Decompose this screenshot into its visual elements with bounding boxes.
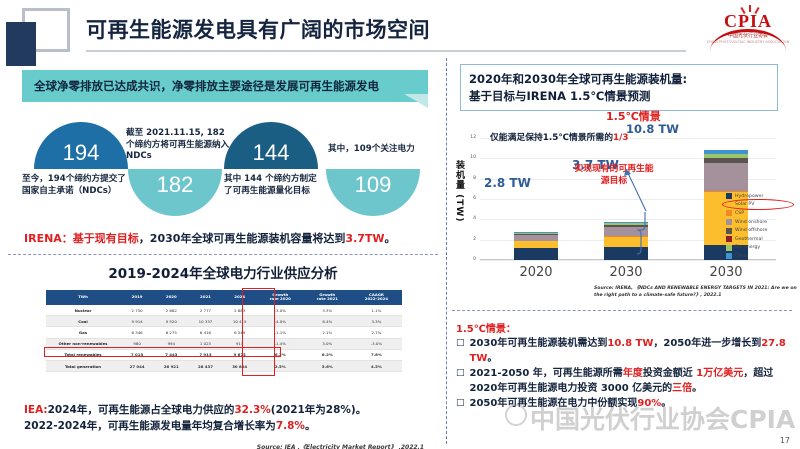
right-title-line-2: 基于目标与IRENA 1.5℃情景预测 [469, 88, 769, 105]
table-cell: 3.3% [351, 316, 402, 327]
right-source: Source: IRENA, 《NDCs AND RENEWABLE ENERG… [594, 286, 800, 299]
table-cell: -3.0% [351, 338, 402, 349]
bullet-text: 2021-2050 年，可再生能源所需年度投资金额近 1万亿美元，超过2020年… [470, 367, 794, 396]
table-cell: 1 023 [188, 338, 222, 349]
legend-label: Geothermal [735, 237, 763, 242]
circle-109-value: 109 [326, 172, 420, 198]
table-col-header: TWh [46, 290, 120, 305]
legend-swatch-icon [726, 193, 732, 199]
table-col-header: 2021 [188, 290, 222, 305]
scenario-bullets: 1.5℃情景： □2030年可再生能源装机需达到10.8 TW，2050年进一步… [456, 320, 794, 413]
irena-value: 3.7TW [345, 232, 384, 245]
table-cell: 2.7% [351, 327, 402, 338]
iea-statement: IEA:2024年，可再生能源占全球电力供应的32.3%(2021年为28%)。… [24, 402, 366, 435]
bullet-emphasis: 10.8 TW [607, 338, 653, 349]
bullet-emphasis: 1万亿美元 [696, 368, 743, 379]
irena-emphasis: 基于现有目标 [73, 232, 139, 245]
logo-cn-name: 中国光伏行业协会 [704, 32, 792, 39]
right-divider [452, 310, 792, 311]
legend-item: Bio energy [726, 244, 800, 253]
logo-en-name: CHINA PHOTOVOLTAIC INDUSTRY ASSOCIATION [704, 40, 792, 44]
circle-194: 194 [34, 122, 128, 169]
table-cell: 3.3% [304, 305, 351, 316]
right-title-line-1: 2020年和2030年全球可再生能源装机量: [469, 71, 769, 88]
irena-statement: IRENA：基于现有目标，2030年全球可再生能源装机容量将达到3.7TW。 [24, 230, 396, 246]
page-title: 可再生能源发电具有广阔的市场空间 [86, 14, 430, 44]
x-axis-tick: 2020 [501, 265, 571, 280]
table-cell: 28 437 [188, 360, 222, 371]
table-cell: 30 884 [223, 360, 257, 371]
bar-total-label: 2.8 TW [484, 176, 531, 190]
y-axis-tick: 0 [464, 257, 476, 262]
y-axis-tick: 6 [464, 196, 476, 201]
y-axis-tick: 8 [464, 176, 476, 181]
right-panel: 2020年和2030年全球可再生能源装机量: 基于目标与IRENA 1.5℃情景… [446, 58, 800, 449]
legend-item: CSP [726, 209, 800, 218]
ndc-infographic: 194 至今，194个缔约方提交了国家自主承诺（NDCs） 182 截至 202… [0, 108, 446, 228]
iea-text-1: 2024年，可再生能源占全球电力供应的 [48, 404, 235, 416]
table-cell: 27 044 [120, 360, 154, 371]
table-header-row: TWh2019202020212024Growthrate 2020Growth… [46, 290, 402, 305]
page-number: 17 [780, 436, 790, 445]
circle-109-caption: 其中，109个关注电力 [328, 144, 434, 156]
table-cell: 2.1% [304, 327, 351, 338]
table-col-header: 2019 [120, 290, 154, 305]
legend-label: Solar PV [735, 202, 754, 207]
table-row-label: Total renewables [46, 349, 120, 360]
bullet-square-icon: □ [456, 337, 465, 366]
table-cell: 2 883 [223, 305, 257, 316]
table-col-header: CAAGR2022-2024 [351, 290, 402, 305]
irena-rest: ，2030年全球可再生能源装机容量将达到 [139, 232, 346, 245]
x-axis-tick: 2030 [691, 265, 761, 280]
legend-swatch-icon [726, 236, 732, 242]
bullet-plain: 2021-2050 年，可再生能源所需 [470, 368, 623, 379]
table-cell: 2 682 [154, 305, 188, 316]
table-row-label: Nuclear [46, 305, 120, 316]
table-cell: 3.0% [304, 338, 351, 349]
iea-text-4: 。 [305, 420, 316, 432]
table-cell: 994 [154, 338, 188, 349]
table-cell: 10 415 [223, 316, 257, 327]
legend-label: Hydropower [735, 194, 763, 199]
table-cell: 5.6% [304, 360, 351, 371]
legend-label: Bio energy [735, 245, 760, 250]
table-col-header: 2024 [223, 290, 257, 305]
table-row: Gas6 3466 2756 4166 549-1.1%2.1%2.7% [46, 327, 402, 338]
table-row: Total renewables7 0157 4437 9139 6756.2%… [46, 349, 402, 360]
table-cell: 6 275 [154, 327, 188, 338]
legend-item: Solar PV [726, 201, 800, 210]
table-col-header: 2020 [154, 290, 188, 305]
legend-swatch-icon [726, 210, 732, 216]
table-cell: 9 520 [154, 316, 188, 327]
chart-note-one-third: 仅能满足保持1.5℃情景所需的1/3 [490, 130, 628, 143]
table-cell: -3.0% [257, 305, 304, 316]
bullet-plain: 投资金额近 [643, 368, 696, 379]
table-cell: 2 750 [120, 305, 154, 316]
bullet-text: 2030年可再生能源装机需达到10.8 TW，2050年进一步增长到27.8 T… [470, 337, 794, 366]
circle-144-value: 144 [224, 140, 318, 166]
table-cell: 6 416 [188, 327, 222, 338]
legend-label: Other [735, 254, 748, 259]
chart-note-one-third-text: 仅能满足保持1.5℃情景所需的 [490, 133, 613, 143]
bar-segment-wind-onshore [704, 163, 748, 190]
table-cell: 7 015 [120, 349, 154, 360]
y-axis-tick: 12 [464, 135, 476, 140]
bullet-plain: ，2050年进一步增长到 [653, 338, 761, 349]
circle-144: 144 [224, 122, 318, 169]
y-axis-tick: 10 [464, 155, 476, 160]
supply-table: TWh2019202020212024Growthrate 2020Growth… [46, 290, 402, 372]
table-cell: 8.4% [304, 316, 351, 327]
iea-label: IEA: [24, 404, 48, 416]
watermark-circle-icon [505, 404, 527, 426]
table-cell: -1.4% [257, 338, 304, 349]
table-cell: 7 913 [188, 349, 222, 360]
watermark: 中国光伏行业协会CPIA [530, 400, 795, 436]
table-cell: 2.5% [257, 360, 304, 371]
header-decoration [6, 8, 78, 56]
table-cell: 7.8% [351, 349, 402, 360]
table-cell: 980 [120, 338, 154, 349]
table-body: Nuclear2 7502 6822 7772 883-3.0%3.3%1.1%… [46, 305, 402, 372]
consensus-banner: 全球净零排放已达成共识，净零排放主要途径是发展可再生能源发电 [22, 70, 428, 102]
cpia-logo: CPIA 中国光伏行业协会 CHINA PHOTOVOLTAIC INDUSTR… [704, 4, 792, 48]
bullet-emphasis: 年度 [623, 368, 643, 379]
circle-144-caption: 其中 144 个缔约方制定了可再生能源量化目标 [224, 174, 324, 197]
installed-capacity-chart: 装机量 (TW) 0246810122.8 TW20203.7 TW203020… [454, 116, 800, 282]
iea-line-1: IEA:2024年，可再生能源占全球电力供应的32.3%(2021年为28%)。 [24, 402, 366, 418]
table-cell: 9 675 [223, 349, 257, 360]
chart-note-one-third-frac: 1/3 [613, 133, 628, 143]
table-row-label: Gas [46, 327, 120, 338]
legend-item: Other [726, 252, 800, 261]
right-title-box: 2020年和2030年全球可再生能源装机量: 基于目标与IRENA 1.5℃情景… [460, 64, 778, 111]
table-row: Coal9 9149 52010 33710 415-4.0%8.4%3.3% [46, 316, 402, 327]
table-col-header: Growthrate 2020 [257, 290, 304, 305]
bullet-item: □2021-2050 年，可再生能源所需年度投资金额近 1万亿美元，超过2020… [456, 367, 794, 396]
table-col-header: Growthrate 2021 [304, 290, 351, 305]
bullet-emphasis: 三倍 [672, 383, 692, 394]
consensus-banner-text: 全球净零排放已达成共识，净零排放主要途径是发展可再生能源发电 [22, 78, 379, 94]
iea-text-3: 2022-2024年，可再生能源发电量年均复合增长率为 [24, 420, 276, 432]
table-cell: -1.1% [257, 327, 304, 338]
table-cell: 2 777 [188, 305, 222, 316]
legend-swatch-icon [726, 245, 732, 251]
table-row-label: Coal [46, 316, 120, 327]
bullet-square-icon: □ [456, 397, 465, 412]
table-cell: 6.2% [257, 349, 304, 360]
irena-prefix: IRENA： [24, 232, 73, 245]
bullet-plain: 。 [692, 383, 702, 394]
table-cell: 6 549 [223, 327, 257, 338]
bullet-square-icon: □ [456, 367, 465, 396]
table-row-label: Other non-renewables [46, 338, 120, 349]
legend-swatch-icon [726, 219, 732, 225]
table-cell: 1.1% [351, 305, 402, 316]
table-cell: 10 337 [188, 316, 222, 327]
brace-arrow-annotation [550, 164, 660, 256]
circle-182-caption: 截至 2021.11.15, 182 个缔约方将可再生能源纳入NDCs [126, 128, 236, 163]
legend-swatch-icon [726, 202, 732, 208]
table-row: Other non-renewables9809941 023913-1.4%3… [46, 338, 402, 349]
bullet-item: □2030年可再生能源装机需达到10.8 TW，2050年进一步增长到27.8 … [456, 337, 794, 366]
table-cell: -4.0% [257, 316, 304, 327]
header-rule [86, 50, 686, 52]
iea-text-2: (2021年为28%)。 [271, 404, 366, 416]
legend-item: Geothermal [726, 235, 800, 244]
iea-line-2: 2022-2024年，可再生能源发电量年均复合增长率为7.8%。 [24, 418, 366, 434]
table-row: Nuclear2 7502 6822 7772 883-3.0%3.3%1.1% [46, 305, 402, 316]
supply-table-wrap: TWh2019202020212024Growthrate 2020Growth… [46, 290, 402, 372]
circle-109: 109 [326, 169, 420, 216]
table-cell: 6 346 [120, 327, 154, 338]
legend-label: CSP [735, 211, 744, 216]
left-divider [8, 254, 438, 255]
legend-item: Wind onshore [726, 218, 800, 227]
bullet-plain: 2030年可再生能源装机需达到 [470, 338, 608, 349]
table-cell: 4.5% [351, 360, 402, 371]
legend-label: Wind offshore [735, 228, 767, 233]
table-row-label: Total generation [46, 360, 120, 371]
legend-swatch-icon [726, 228, 732, 234]
table-cell: 6.2% [304, 349, 351, 360]
slide: 可再生能源发电具有广阔的市场空间 CPIA 中国光伏行业协会 CHINA PHO… [0, 0, 800, 449]
scenario-bullets-heading: 1.5℃情景： [456, 320, 794, 335]
y-axis-tick: 4 [464, 216, 476, 221]
table-cell: 26 921 [154, 360, 188, 371]
x-axis-tick: 2030 [591, 265, 661, 280]
legend-label: Wind onshore [735, 220, 767, 225]
left-source: Source: IEA ,《Electricity Market Report》… [257, 442, 424, 449]
legend-item: Hydropower [726, 192, 800, 201]
circle-182: 182 [128, 169, 222, 216]
table-row: Total generation27 04426 92128 43730 884… [46, 360, 402, 371]
iea-pct-1: 32.3% [234, 404, 270, 416]
legend-item: Wind offshore [726, 226, 800, 235]
irena-suffix: 。 [385, 232, 396, 245]
table-cell: 9 914 [120, 316, 154, 327]
bullet-plain: 。 [487, 353, 497, 364]
chart-legend: HydropowerSolar PVCSPWind onshoreWind of… [726, 192, 800, 261]
circle-194-value: 194 [34, 140, 128, 166]
legend-swatch-icon [726, 253, 732, 259]
circle-182-value: 182 [128, 172, 222, 198]
y-axis-tick: 2 [464, 237, 476, 242]
iea-pct-2: 7.8% [276, 420, 305, 432]
y-axis-title: 装机量 (TW) [450, 160, 466, 222]
table-cell: 913 [223, 338, 257, 349]
left-panel: 全球净零排放已达成共识，净零排放主要途径是发展可再生能源发电 194 至今，19… [0, 58, 446, 449]
circle-194-caption: 至今，194个缔约方提交了国家自主承诺（NDCs） [22, 174, 128, 197]
table-title: 2019-2024年全球电力行业供应分析 [0, 262, 446, 282]
table-cell: 7 443 [154, 349, 188, 360]
